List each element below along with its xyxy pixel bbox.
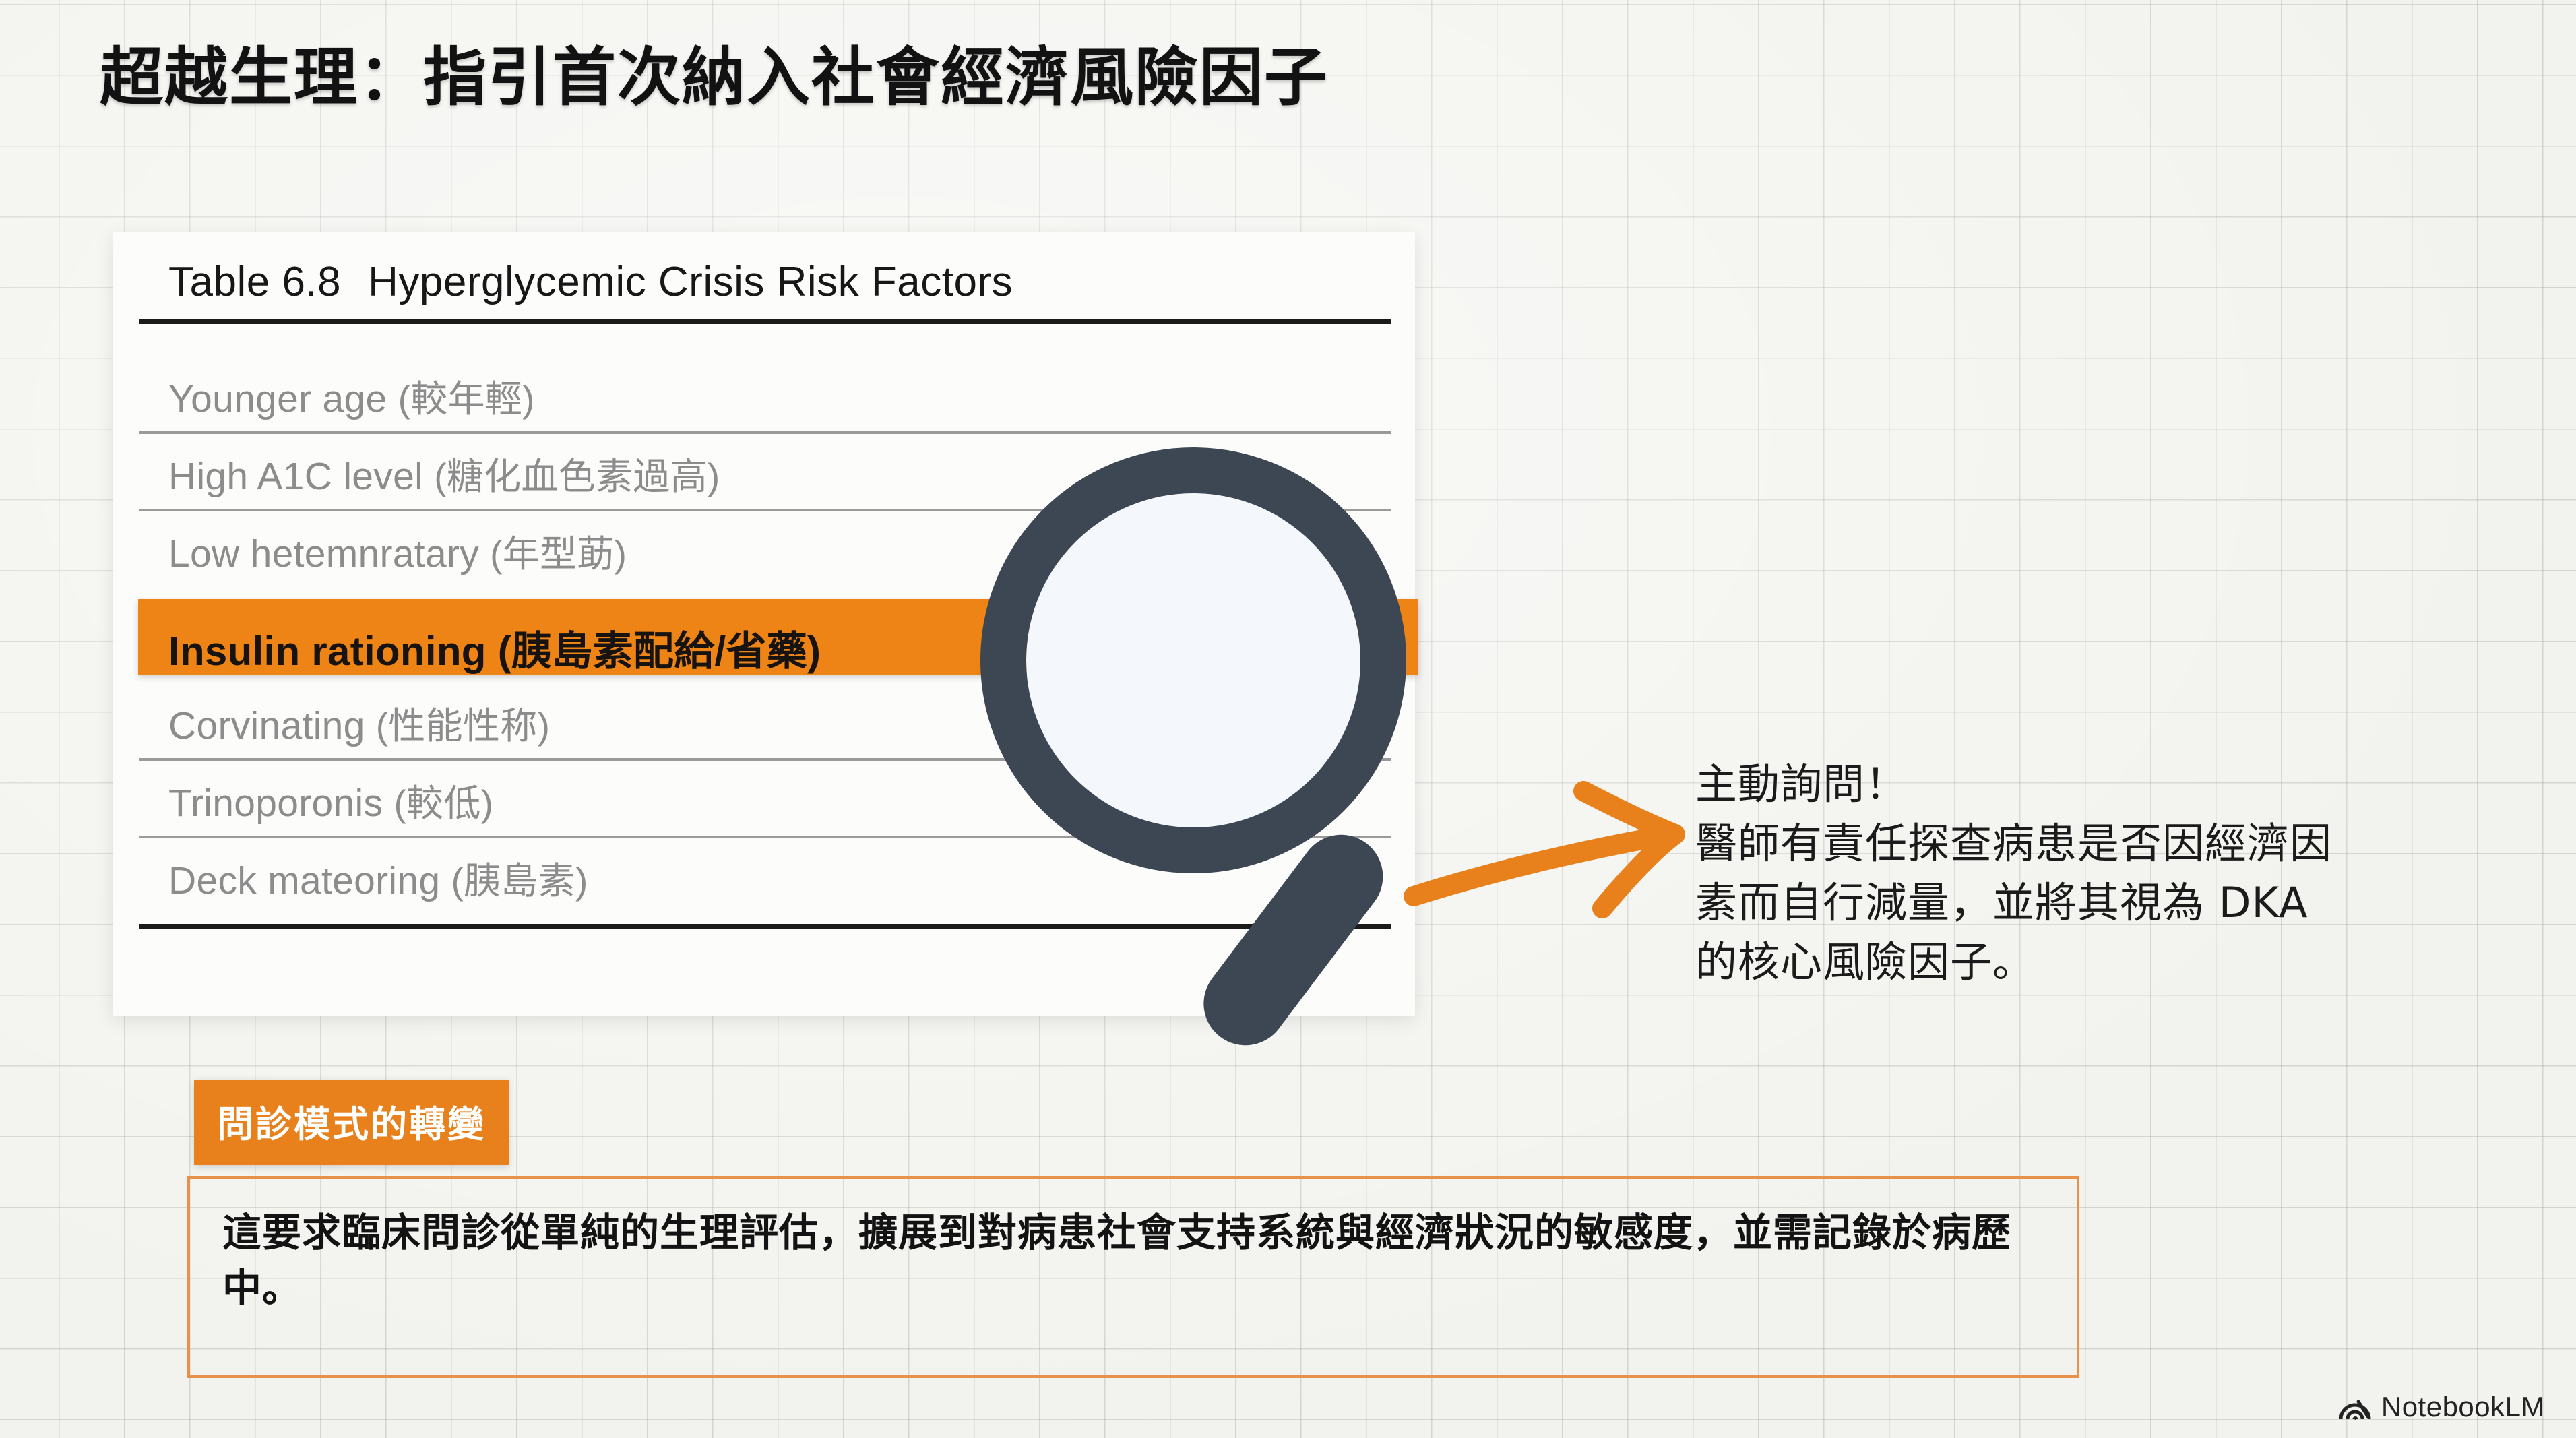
row-label-cn: (胰島素)	[451, 860, 588, 902]
row-label-en: High A1C level	[168, 455, 423, 498]
page-title: 超越生理：指引首次納入社會經濟風險因子	[100, 42, 1329, 113]
notebooklm-logo-icon	[2338, 1392, 2372, 1422]
row-label-en: Younger age	[168, 377, 387, 420]
row-label-en: Trinoporonis	[168, 782, 383, 825]
footer-brand: NotebookLM	[2338, 1391, 2545, 1423]
table-rule	[139, 431, 1391, 434]
annotation-heading: 主動詢問！	[1695, 755, 2332, 814]
table-row: Corvinating (性能性称)	[168, 695, 550, 749]
annotation-line: 醫師有責任探查病患是否因經濟因	[1695, 814, 2332, 873]
row-label-cn: (較年輕)	[398, 378, 535, 420]
table-row: High A1C level (糖化血色素過高)	[168, 446, 720, 500]
table-caption: Table 6.8Hyperglycemic Crisis Risk Facto…	[168, 258, 1013, 306]
annotation-line: 素而自行減量，並將其視為 DKA	[1695, 873, 2332, 933]
row-label-cn: (糖化血色素過高)	[434, 456, 720, 497]
callout-box: 這要求臨床問診從單純的生理評估，擴展到對病患社會支持系統與經濟狀況的敏感度，並需…	[187, 1176, 2079, 1378]
row-label-cn: (性能性称)	[376, 705, 550, 747]
table-row: Deck mateoring (胰島素)	[168, 850, 588, 904]
table-row: Younger age (較年輕)	[168, 369, 535, 423]
row-label-cn: (年型莇)	[490, 533, 627, 575]
table-rule	[139, 758, 1391, 761]
brand-label: NotebookLM	[2381, 1391, 2545, 1423]
table-rule-header	[139, 319, 1391, 324]
table-title: Hyperglycemic Crisis Risk Factors	[368, 259, 1013, 305]
row-label-en: Deck mateoring	[168, 859, 440, 902]
risk-factor-table-card: Table 6.8Hyperglycemic Crisis Risk Facto…	[113, 232, 1415, 1016]
table-rule	[139, 836, 1391, 838]
row-label-cn: (較低)	[394, 782, 493, 824]
row-label-en: Corvinating	[168, 704, 365, 747]
section-tag-badge: 問診模式的轉變	[194, 1080, 509, 1165]
annotation-text-block: 主動詢問！ 醫師有責任探查病患是否因經濟因 素而自行減量，並將其視為 DKA 的…	[1695, 755, 2332, 992]
table-row: Low hetemnratary (年型莇)	[168, 524, 627, 577]
table-rule	[139, 509, 1391, 511]
table-rule-footer	[139, 924, 1391, 929]
annotation-line: 的核心風險因子。	[1695, 933, 2332, 992]
table-row: Trinoporonis (較低)	[168, 773, 493, 827]
row-label-en: Low hetemnratary	[168, 532, 479, 575]
table-number: Table 6.8	[168, 259, 341, 305]
callout-text: 這要求臨床問診從單純的生理評估，擴展到對病患社會支持系統與經濟狀況的敏感度，並需…	[222, 1206, 2055, 1317]
highlighted-row-label: Insulin rationing (胰島素配給/省藥)	[168, 619, 821, 677]
